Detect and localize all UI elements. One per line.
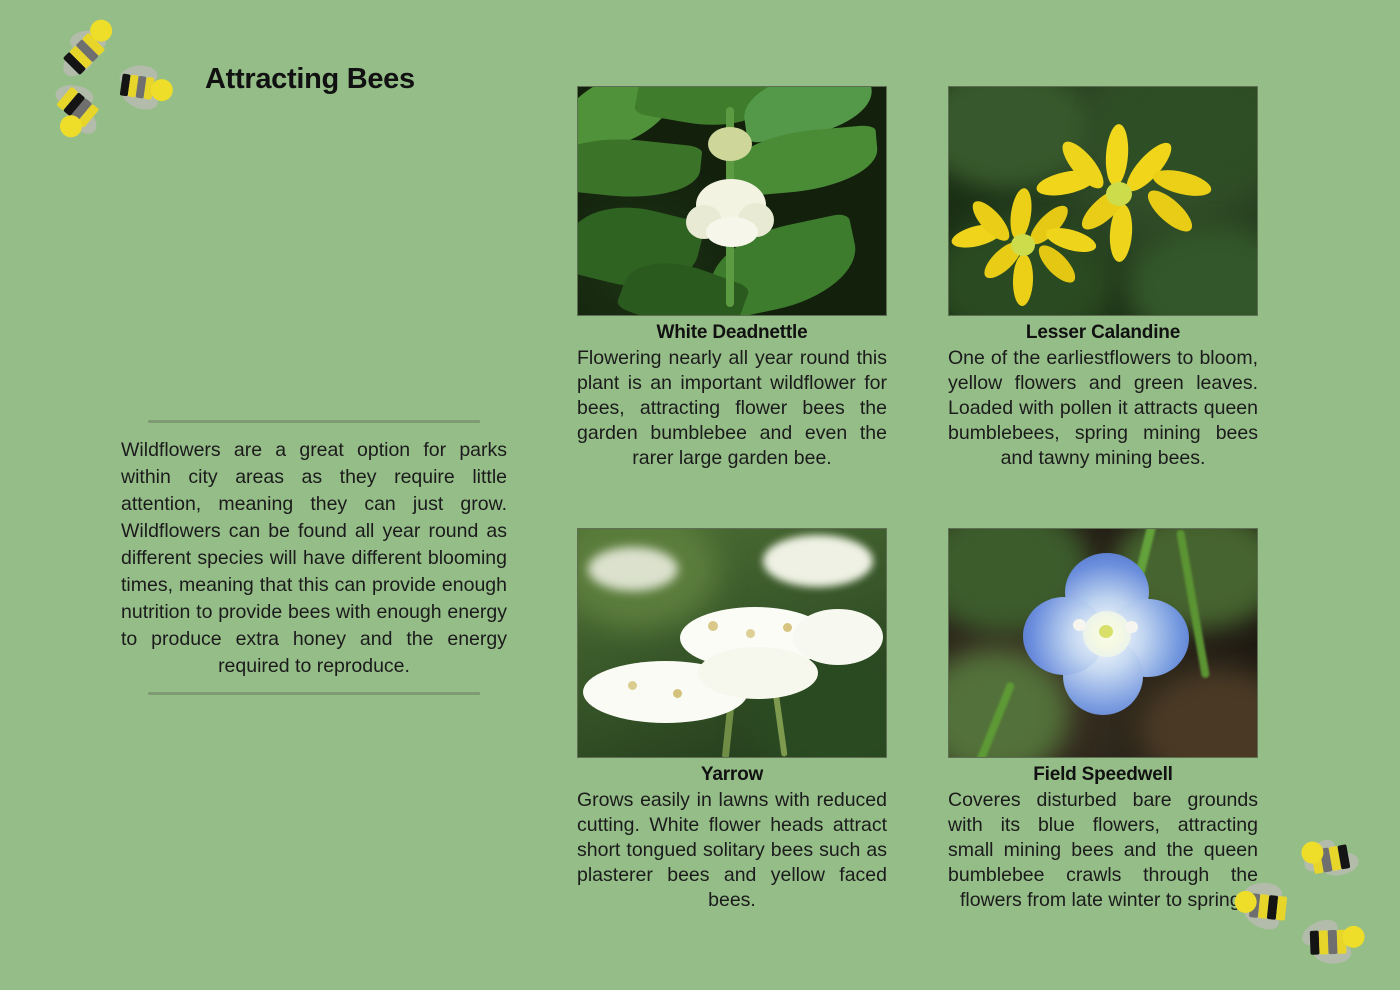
lesser-calandine-photo xyxy=(948,86,1258,316)
yarrow-photo xyxy=(577,528,887,758)
card-title: Field Speedwell xyxy=(948,764,1258,786)
bee-icon xyxy=(43,74,122,146)
bee-icon xyxy=(1294,821,1373,893)
field-speedwell-photo xyxy=(948,528,1258,758)
flower-card-white-deadnettle: White Deadnettle Flowering nearly all ye… xyxy=(577,86,887,491)
intro-rule-bottom xyxy=(148,692,480,695)
card-body: Coveres disturbed bare grounds with its … xyxy=(948,788,1258,913)
poster-page: Attracting Bees xyxy=(0,0,1400,990)
flower-card-field-speedwell: Field Speedwell Coveres disturbed bare g… xyxy=(948,528,1258,933)
bee-icon xyxy=(1298,911,1371,971)
white-deadnettle-photo xyxy=(577,86,887,316)
card-body: Grows easily in lawns with reduced cutti… xyxy=(577,788,887,913)
flower-card-yarrow: Yarrow Grows easily in lawns with reduce… xyxy=(577,528,887,933)
card-title: White Deadnettle xyxy=(577,322,887,344)
card-body: One of the earliestflowers to bloom, yel… xyxy=(948,346,1258,471)
bee-cluster-top-left xyxy=(55,20,185,150)
bee-icon xyxy=(1229,876,1303,938)
intro-paragraph: Wildflowers are a great option for parks… xyxy=(121,437,507,680)
card-body: Flowering nearly all year round this pla… xyxy=(577,346,887,471)
intro-block: Wildflowers are a great option for parks… xyxy=(118,420,510,695)
flower-card-lesser-calandine: Lesser Calandine One of the earliestflow… xyxy=(948,86,1258,491)
page-title: Attracting Bees xyxy=(205,63,415,96)
bee-icon xyxy=(112,60,182,116)
card-title: Yarrow xyxy=(577,764,887,786)
bee-cluster-bottom-right xyxy=(1240,835,1390,980)
card-title: Lesser Calandine xyxy=(948,322,1258,344)
intro-rule-top xyxy=(148,420,480,423)
